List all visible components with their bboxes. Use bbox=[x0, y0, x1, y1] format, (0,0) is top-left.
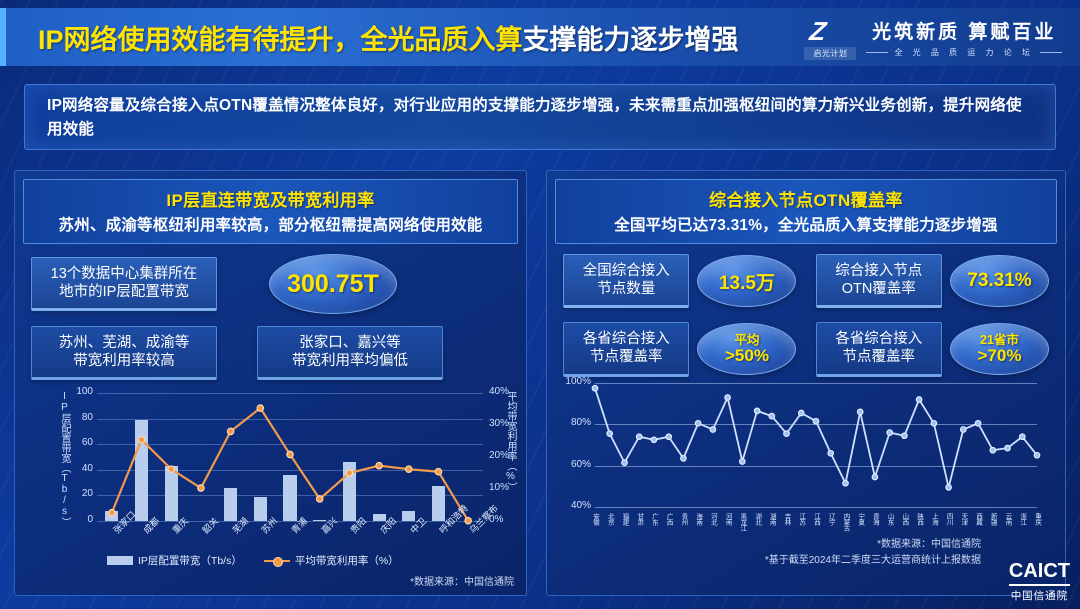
x-category-label: 重庆 bbox=[1033, 513, 1040, 525]
x-category-label: 江苏 bbox=[797, 513, 804, 525]
right-callout-bubble-2: 73.31% bbox=[950, 255, 1049, 307]
right-chart: 40%60%80%100% 安徽北京福建甘肃广东广西贵州海南河北河南黑龙江湖北湖… bbox=[547, 369, 1066, 596]
right-callout-row-1: 全国综合接入 节点数量 13.5万 综合接入节点 OTN覆盖率 73.31% bbox=[563, 254, 1049, 308]
left-callout-tag-1: 13个数据中心集群所在 地市的IP层配置带宽 bbox=[31, 257, 217, 311]
x-category-label: 河南 bbox=[724, 513, 731, 525]
legend-item-bar: IP层配置带宽（Tb/s） bbox=[107, 553, 242, 568]
x-category-label: 江西 bbox=[812, 513, 819, 525]
right-callout-tag-2: 综合接入节点 OTN覆盖率 bbox=[816, 254, 942, 308]
left-panel: IP层直连带宽及带宽利用率 苏州、成渝等枢纽利用率较高，部分枢纽需提高网络使用效… bbox=[14, 170, 527, 596]
right-panel-subtitle: 全国平均已达73.31%，全光品质入算支撑能力逐步增强 bbox=[564, 213, 1048, 235]
right-panel: 综合接入节点OTN覆盖率 全国平均已达73.31%，全光品质入算支撑能力逐步增强… bbox=[546, 170, 1066, 596]
legend-item-line: 平均带宽利用率（%） bbox=[264, 553, 399, 568]
x-category-label: 河北 bbox=[709, 513, 716, 525]
logo-text-block: 光筑新质 算赋百业 全 光 品 质 运 力 论 坛 bbox=[866, 17, 1062, 58]
summary-banner: IP网络容量及综合接入点OTN覆盖情况整体良好，对行业应用的支撑能力逐步增强，未… bbox=[24, 84, 1056, 150]
left-chart-y-axis-label: IP层配置带宽（Tb/s） bbox=[57, 391, 72, 531]
page-header: IP网络使用效能有待提升，全光品质入算支撑能力逐步增强 Z 启光计划 光筑新质 … bbox=[0, 8, 1080, 66]
line-series bbox=[595, 383, 1037, 507]
summary-text: IP网络容量及综合接入点OTN覆盖情况整体良好，对行业应用的支撑能力逐步增强，未… bbox=[47, 94, 1033, 142]
x-category-label: 山东 bbox=[886, 513, 893, 525]
right-callout-bubble-4: 21省市 >70% bbox=[950, 323, 1049, 375]
header-accent-bar bbox=[0, 8, 6, 66]
y-tick-label: 80% bbox=[553, 417, 591, 428]
x-category-label: 山西 bbox=[900, 513, 907, 525]
right-callout-bubble-3: 平均 >50% bbox=[697, 323, 796, 375]
x-category-label: 云南 bbox=[1004, 513, 1011, 525]
left-callout-tag-3: 张家口、嘉兴等 带宽利用率均偏低 bbox=[257, 326, 443, 380]
x-category-label: 北京 bbox=[606, 513, 613, 525]
right-chart-plot bbox=[595, 383, 1037, 507]
left-panel-title: IP层直连带宽及带宽利用率 bbox=[32, 186, 509, 211]
y2-tick-label: 20% bbox=[489, 450, 509, 461]
x-category-label: 安徽 bbox=[591, 513, 598, 525]
left-chart-plot bbox=[97, 393, 483, 521]
left-chart-source: *数据来源：中国信通院 bbox=[410, 573, 514, 588]
x-category-label: 广东 bbox=[650, 513, 657, 525]
logo-sub-text: 全 光 品 质 运 力 论 坛 bbox=[866, 47, 1062, 58]
legend-line-label: 平均带宽利用率（%） bbox=[295, 553, 399, 568]
x-category-label: 湖北 bbox=[753, 513, 760, 525]
x-category-label: 上海 bbox=[930, 513, 937, 525]
x-category-label: 吉林 bbox=[783, 513, 790, 525]
y2-tick-label: 30% bbox=[489, 418, 509, 429]
logo-plate-label: 启光计划 bbox=[804, 47, 856, 60]
y-tick-label: 20 bbox=[71, 488, 93, 499]
right-panel-title: 综合接入节点OTN覆盖率 bbox=[564, 186, 1048, 211]
left-callout-row-2: 苏州、芜湖、成渝等 带宽利用率较高 张家口、嘉兴等 带宽利用率均偏低 bbox=[31, 326, 510, 380]
x-category-label: 天津 bbox=[959, 513, 966, 525]
right-chart-source-2: *基于截至2024年二季度三大运营商统计上报数据 bbox=[765, 551, 981, 566]
y-tick-label: 80 bbox=[71, 412, 93, 423]
page-title-part3: 支撑能力逐步增强 bbox=[523, 25, 739, 55]
x-category-label: 四川 bbox=[945, 513, 952, 525]
left-chart-y2-axis-label: 平均带宽利用率（%） bbox=[503, 391, 518, 531]
right-callout-bubble-4-value: >70% bbox=[978, 347, 1022, 365]
x-category-label: 新疆 bbox=[989, 513, 996, 525]
y2-tick-label: 10% bbox=[489, 482, 509, 493]
x-category-label: 浙江 bbox=[1018, 513, 1025, 525]
left-callout-bubble-total: 300.75T bbox=[269, 254, 397, 314]
y-tick-label: 60% bbox=[553, 459, 591, 470]
y-tick-label: 60 bbox=[71, 437, 93, 448]
logo-z-glyph: Z bbox=[808, 16, 828, 47]
left-chart: IP层配置带宽（Tb/s） 平均带宽利用率（%） 0204060801000%1… bbox=[15, 381, 527, 596]
right-callouts: 全国综合接入 节点数量 13.5万 综合接入节点 OTN覆盖率 73.31% 各… bbox=[547, 254, 1065, 377]
logo-plate: 启光计划 bbox=[804, 47, 856, 60]
right-callout-tag-1: 全国综合接入 节点数量 bbox=[563, 254, 689, 308]
x-category-label: 海南 bbox=[694, 513, 701, 525]
right-panel-header: 综合接入节点OTN覆盖率 全国平均已达73.31%，全光品质入算支撑能力逐步增强 bbox=[555, 179, 1057, 244]
y-tick-label: 100% bbox=[553, 376, 591, 387]
line-series bbox=[97, 393, 483, 521]
page-title: IP网络使用效能有待提升，全光品质入算支撑能力逐步增强 bbox=[38, 18, 739, 57]
x-category-label: 内蒙古 bbox=[841, 513, 848, 531]
y-tick-label: 40 bbox=[71, 463, 93, 474]
logo-dash-left bbox=[866, 52, 888, 53]
x-category-label: 黑龙江 bbox=[738, 513, 745, 531]
legend-bar-swatch-icon bbox=[107, 556, 133, 565]
y-tick-label: 40% bbox=[553, 500, 591, 511]
x-category-label: 福建 bbox=[620, 513, 627, 525]
y-tick-label: 100 bbox=[71, 386, 93, 397]
x-category-label: 辽宁 bbox=[827, 513, 834, 525]
left-callouts: 13个数据中心集群所在 地市的IP层配置带宽 300.75T 苏州、芜湖、成渝等… bbox=[15, 254, 526, 380]
x-category-label: 甘肃 bbox=[635, 513, 642, 525]
page-title-part2: 全光品质入算 bbox=[361, 25, 523, 55]
logo-dash-right bbox=[1040, 52, 1062, 53]
caict-brand-cn: 中国信通院 bbox=[1009, 588, 1070, 603]
y-tick-label: 0 bbox=[71, 514, 93, 525]
left-panel-header: IP层直连带宽及带宽利用率 苏州、成渝等枢纽利用率较高，部分枢纽需提高网络使用效… bbox=[23, 179, 518, 244]
logo-sub-label: 全 光 品 质 运 力 论 坛 bbox=[894, 47, 1034, 58]
x-category-label: 陕西 bbox=[915, 513, 922, 525]
x-category-label: 西藏 bbox=[974, 513, 981, 525]
caict-brand: CAICT bbox=[1009, 560, 1070, 586]
right-chart-source-1: *数据来源：中国信通院 bbox=[877, 535, 981, 550]
event-logo: Z 启光计划 光筑新质 算赋百业 全 光 品 质 运 力 论 坛 bbox=[804, 12, 1062, 62]
x-category-label: 贵州 bbox=[679, 513, 686, 525]
legend-line-swatch-icon bbox=[264, 556, 290, 566]
left-callout-tag-2: 苏州、芜湖、成渝等 带宽利用率较高 bbox=[31, 326, 217, 380]
left-callout-row-1: 13个数据中心集群所在 地市的IP层配置带宽 300.75T bbox=[31, 254, 510, 314]
right-callout-bubble-1: 13.5万 bbox=[697, 255, 796, 307]
right-callout-bubble-3-value: >50% bbox=[725, 347, 769, 365]
left-chart-legend: IP层配置带宽（Tb/s） 平均带宽利用率（%） bbox=[107, 553, 399, 568]
left-panel-subtitle: 苏州、成渝等枢纽利用率较高，部分枢纽需提高网络使用效能 bbox=[32, 213, 509, 235]
logo-mark-icon: Z 启光计划 bbox=[804, 14, 856, 60]
legend-bar-label: IP层配置带宽（Tb/s） bbox=[138, 553, 242, 568]
gridline bbox=[595, 507, 1037, 508]
x-category-label: 广西 bbox=[665, 513, 672, 525]
x-category-label: 湖南 bbox=[768, 513, 775, 525]
logo-main-text: 光筑新质 算赋百业 bbox=[872, 17, 1056, 44]
x-category-label: 青海 bbox=[871, 513, 878, 525]
page-title-part1: IP网络使用效能有待提升， bbox=[38, 25, 361, 55]
caict-logo: CAICT 中国信通院 bbox=[1009, 560, 1070, 603]
x-category-label: 宁夏 bbox=[856, 513, 863, 525]
y2-tick-label: 40% bbox=[489, 386, 509, 397]
